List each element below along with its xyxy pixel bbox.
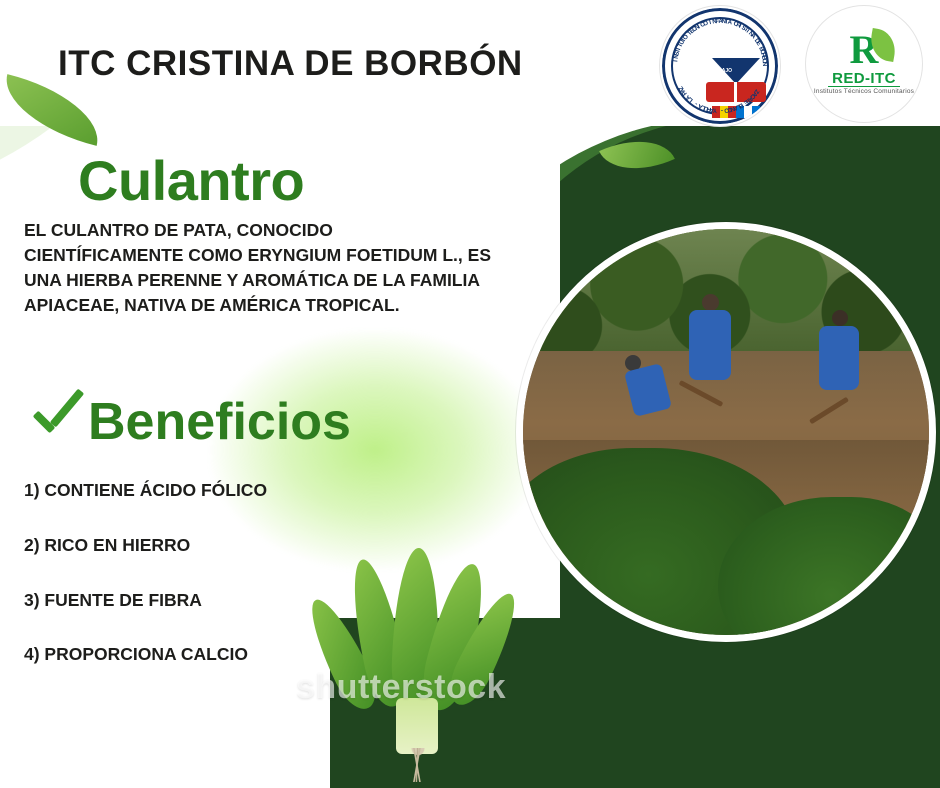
watermark-text: shutterstock: [296, 668, 506, 707]
check-icon: [28, 398, 86, 450]
red-itc-letter: R: [806, 26, 922, 73]
person-head: [832, 310, 848, 326]
benefits-heading: Beneficios: [28, 392, 458, 458]
benefits-title: Beneficios: [88, 392, 351, 452]
red-itc-subtitle: Institutos Técnicos Comunitarios: [806, 88, 922, 95]
benefit-item: 2) RICO EN HIERRO: [24, 535, 190, 556]
plant-description: EL CULANTRO DE PATA, CONOCIDO CIENTÍFICA…: [24, 218, 494, 317]
poster-header: ITC CRISTINA DE BORBÓN TRABAJO INSTITUTO…: [0, 0, 940, 128]
person-figure: [819, 326, 859, 390]
plant-title: Culantro: [78, 148, 304, 213]
itc-seal-logo: TRABAJO INSTITUTO TÉCNICO INFANTA CRISTI…: [660, 6, 780, 126]
red-itc-logo: R RED-ITC Institutos Técnicos Comunitari…: [806, 6, 922, 122]
person-figure: [689, 310, 731, 380]
seal-arc-text: INSTITUTO TÉCNICO INFANTA CRISTINA DE BO…: [662, 8, 778, 124]
red-itc-title: RED-ITC: [806, 70, 922, 87]
benefit-item: 1) CONTIENE ÁCIDO FÓLICO: [24, 480, 267, 501]
benefit-item: 3) FUENTE DE FIBRA: [24, 590, 202, 611]
poster-canvas: ITC CRISTINA DE BORBÓN TRABAJO INSTITUTO…: [0, 0, 940, 788]
benefit-item: 4) PROPORCIONA CALCIO: [24, 644, 248, 665]
roots-shape: [386, 748, 450, 784]
person-head: [702, 294, 719, 311]
page-title: ITC CRISTINA DE BORBÓN: [58, 44, 523, 84]
